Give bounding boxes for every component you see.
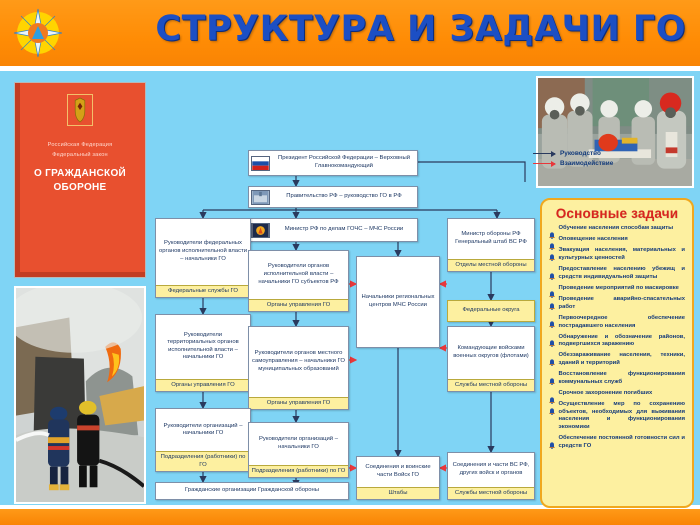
node-label: Федеральные округа [448, 301, 534, 321]
alert-bell-icon [549, 267, 555, 274]
node-federal-heads[interactable]: Руководители федеральных органов исполни… [155, 218, 251, 298]
task-label: Обеззараживание населения, техники, здан… [559, 352, 686, 367]
book-line-1: Российская Федерация [15, 141, 145, 151]
node-label: Руководители организаций – начальники ГО [249, 423, 348, 465]
node-regional-centres[interactable]: Начальники региональных центров МЧС Росс… [356, 256, 440, 348]
node-minister-defence[interactable]: Министр обороны РФ Генеральный штаб ВС Р… [447, 218, 535, 272]
task-item: Предоставление населению убежищ и средст… [549, 266, 685, 281]
node-federal-districts[interactable]: Федеральные округа [447, 300, 535, 322]
book-subtitle: Российская Федерация Федеральный закон [15, 141, 145, 160]
task-item: Обучение населения способам защиты [549, 225, 685, 233]
task-item: Осуществление мер по сохранению объектов… [549, 401, 685, 431]
node-organisation-heads-left[interactable]: Руководители организаций – начальники ГО… [155, 408, 251, 472]
poster-root: СТРУКТУРА И ЗАДАЧИ ГО Российская Федерац… [0, 0, 700, 525]
node-president[interactable]: Президент Российской Федерации – Верховн… [248, 150, 418, 176]
russian-coat-of-arms-icon [67, 94, 93, 126]
legend-label: Руководство [560, 150, 601, 157]
node-sublabel: Отделы местной обороны [448, 259, 534, 271]
task-item: Первоочередное обеспечение пострадавшего… [549, 315, 685, 330]
node-label: Правительство РФ – руководство ГО в РФ [273, 191, 415, 203]
task-label: Обеспечение постоянной готовности сил и … [559, 435, 686, 450]
alert-bell-icon [549, 391, 555, 398]
chart-legend: Руководство Взаимодействие [533, 150, 653, 170]
mchs-badge-icon [251, 223, 270, 238]
book-title: О ГРАЖДАНСКОЙ ОБОРОНЕ [15, 167, 145, 194]
task-label: Обучение населения способам защиты [559, 225, 674, 233]
node-sublabel: Федеральные службы ГО [156, 285, 250, 297]
node-subject-heads[interactable]: Руководители органов исполнительной влас… [248, 250, 349, 312]
federal-law-book-cover: Российская Федерация Федеральный закон О… [14, 82, 146, 278]
node-go-troops[interactable]: Соединения и воинские части Войск ГО Шта… [356, 456, 440, 500]
legend-item-vzaimodeystvie: Взаимодействие [533, 160, 653, 167]
node-label: Командующие войсками военных округов (фл… [448, 327, 534, 379]
alert-bell-icon [549, 237, 555, 244]
node-sublabel: Органы управления ГО [156, 379, 250, 391]
task-label: Предоставление населению убежищ и средст… [559, 266, 686, 281]
alert-bell-icon [549, 285, 555, 292]
task-label: Восстановление функционирования коммунал… [559, 371, 686, 386]
task-item: Обеспечение постоянной готовности сил и … [549, 435, 685, 450]
government-building-icon [251, 190, 270, 205]
node-label: Министр обороны РФ Генеральный штаб ВС Р… [448, 219, 534, 259]
node-label: Руководители организаций – начальники ГО [156, 409, 250, 451]
task-item: Проведение аварийно-спасательных работ [549, 296, 685, 311]
task-label: Обнаружение и обозначение районов, подве… [559, 334, 686, 349]
page-title: СТРУКТУРА И ЗАДАЧИ ГО [155, 9, 686, 49]
tasks-title: Основные задачи [549, 206, 685, 221]
task-item: Проведение мероприятий по маскировке [549, 285, 685, 293]
legend-arrow-red-icon [533, 163, 555, 164]
task-label: Проведение аварийно-спасательных работ [559, 296, 686, 311]
node-military-district-commanders[interactable]: Командующие войсками военных округов (фл… [447, 326, 535, 392]
node-armed-forces-units[interactable]: Соединения и части ВС РФ, других войск и… [447, 452, 535, 500]
alert-bell-icon [549, 226, 555, 233]
node-label: Руководители федеральных органов исполни… [156, 219, 250, 285]
rescue-team-photo [536, 76, 694, 188]
node-label: Начальники региональных центров МЧС Росс… [357, 257, 439, 347]
node-sublabel: Службы местной обороны [448, 379, 534, 391]
node-sublabel: Службы местной обороны [448, 487, 534, 499]
legend-item-rukovodstvo: Руководство [533, 150, 653, 157]
mchs-emblem [12, 7, 64, 59]
task-label: Эвакуация населения, материальных и куль… [559, 247, 686, 262]
node-label: Руководители органов местного самоуправл… [249, 327, 348, 397]
node-label: Соединения и воинские части Войск ГО [357, 457, 439, 487]
node-sublabel: Штабы [357, 487, 439, 499]
task-label: Оповещение населения [559, 236, 628, 244]
legend-arrow-dark-icon [533, 153, 555, 154]
node-territorial-heads[interactable]: Руководители территориальных органов исп… [155, 314, 251, 392]
alert-bell-icon [549, 315, 555, 322]
node-label: Соединения и части ВС РФ, других войск и… [448, 453, 534, 487]
alert-bell-icon [549, 297, 555, 304]
task-label: Первоочередное обеспечение пострадавшего… [559, 315, 686, 330]
task-item: Оповещение населения [549, 236, 685, 244]
node-sublabel: Органы управления ГО [249, 299, 348, 311]
task-label: Срочное захоронение погибших [559, 390, 653, 398]
node-label: Министр РФ по делам ГОЧС – МЧС России [273, 224, 415, 236]
node-sublabel: Подразделения (работники) по ГО [156, 451, 250, 471]
alert-bell-icon [549, 436, 555, 443]
node-minister-mchs[interactable]: Министр РФ по делам ГОЧС – МЧС России [248, 218, 418, 242]
task-item: Эвакуация населения, материальных и куль… [549, 247, 685, 262]
alert-bell-icon [549, 248, 555, 255]
task-item: Восстановление функционирования коммунал… [549, 371, 685, 386]
main-tasks-panel: Основные задачи Обучение населения спосо… [540, 198, 694, 508]
node-sublabel: Органы управления ГО [249, 397, 348, 409]
task-item: Срочное захоронение погибших [549, 390, 685, 398]
tasks-list: Обучение населения способам защитыОповещ… [549, 225, 685, 450]
node-label: Гражданские организации Гражданской обор… [156, 483, 348, 499]
firefighters-photo [14, 286, 146, 504]
task-item: Обнаружение и обозначение районов, подве… [549, 334, 685, 349]
book-bottom-edge [15, 272, 145, 277]
alert-bell-icon [549, 372, 555, 379]
node-sublabel: Подразделения (работники) по ГО [249, 465, 348, 477]
russian-flag-icon [251, 156, 270, 171]
legend-label: Взаимодействие [560, 160, 613, 167]
node-local-self-government[interactable]: Руководители органов местного самоуправл… [248, 326, 349, 410]
node-civil-organisations[interactable]: Гражданские организации Гражданской обор… [155, 482, 349, 500]
node-label: Президент Российской Федерации – Верховн… [273, 153, 415, 172]
node-organisation-heads-mid[interactable]: Руководители организаций – начальники ГО… [248, 422, 349, 478]
task-label: Проведение мероприятий по маскировке [559, 285, 679, 293]
node-label: Руководители органов исполнительной влас… [249, 251, 348, 299]
alert-bell-icon [549, 353, 555, 360]
task-item: Обеззараживание населения, техники, здан… [549, 352, 685, 367]
footer-band [0, 509, 700, 525]
alert-bell-icon [549, 334, 555, 341]
book-line-2: Федеральный закон [15, 151, 145, 161]
header-divider [0, 66, 700, 71]
node-label: Руководители территориальных органов исп… [156, 315, 250, 379]
task-label: Осуществление мер по сохранению объектов… [559, 401, 686, 431]
alert-bell-icon [549, 402, 555, 409]
node-government[interactable]: Правительство РФ – руководство ГО в РФ [248, 186, 418, 208]
